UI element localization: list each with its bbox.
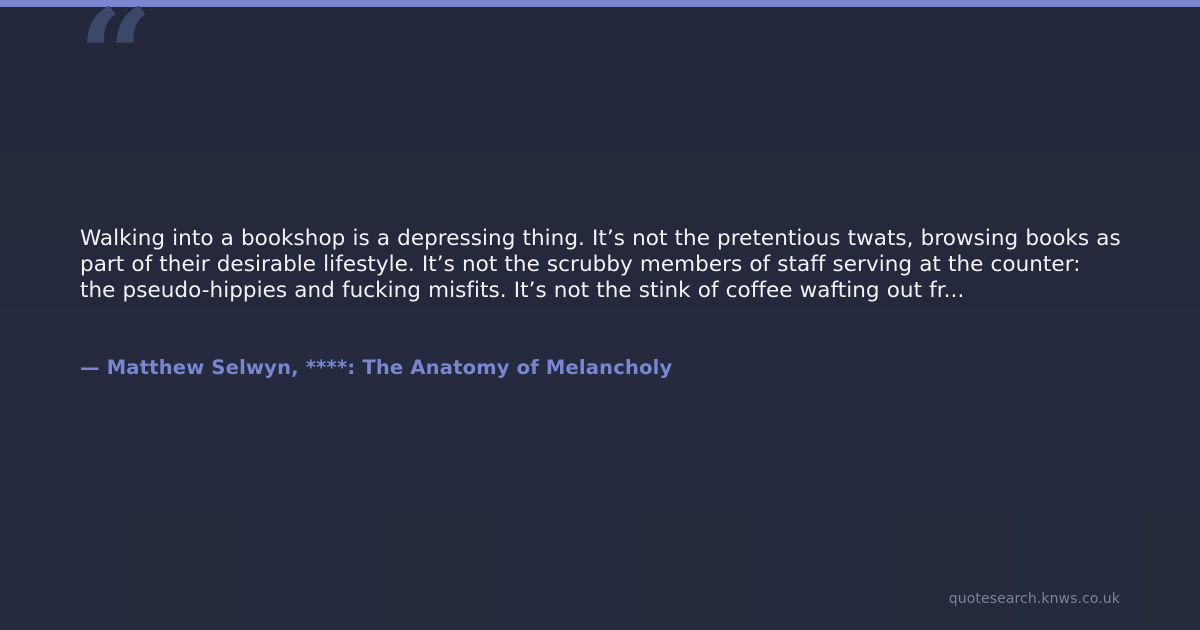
site-watermark: quotesearch.knws.co.uk [949, 590, 1120, 608]
open-quote-icon: “ [78, 0, 151, 122]
quote-attribution: — Matthew Selwyn, ****: The Anatomy of M… [80, 355, 1122, 381]
background-banding [0, 0, 1200, 630]
top-accent-bar [0, 0, 1200, 7]
quote-text: Walking into a bookshop is a depressing … [80, 226, 1122, 304]
quote-card: “ Walking into a bookshop is a depressin… [0, 0, 1200, 630]
